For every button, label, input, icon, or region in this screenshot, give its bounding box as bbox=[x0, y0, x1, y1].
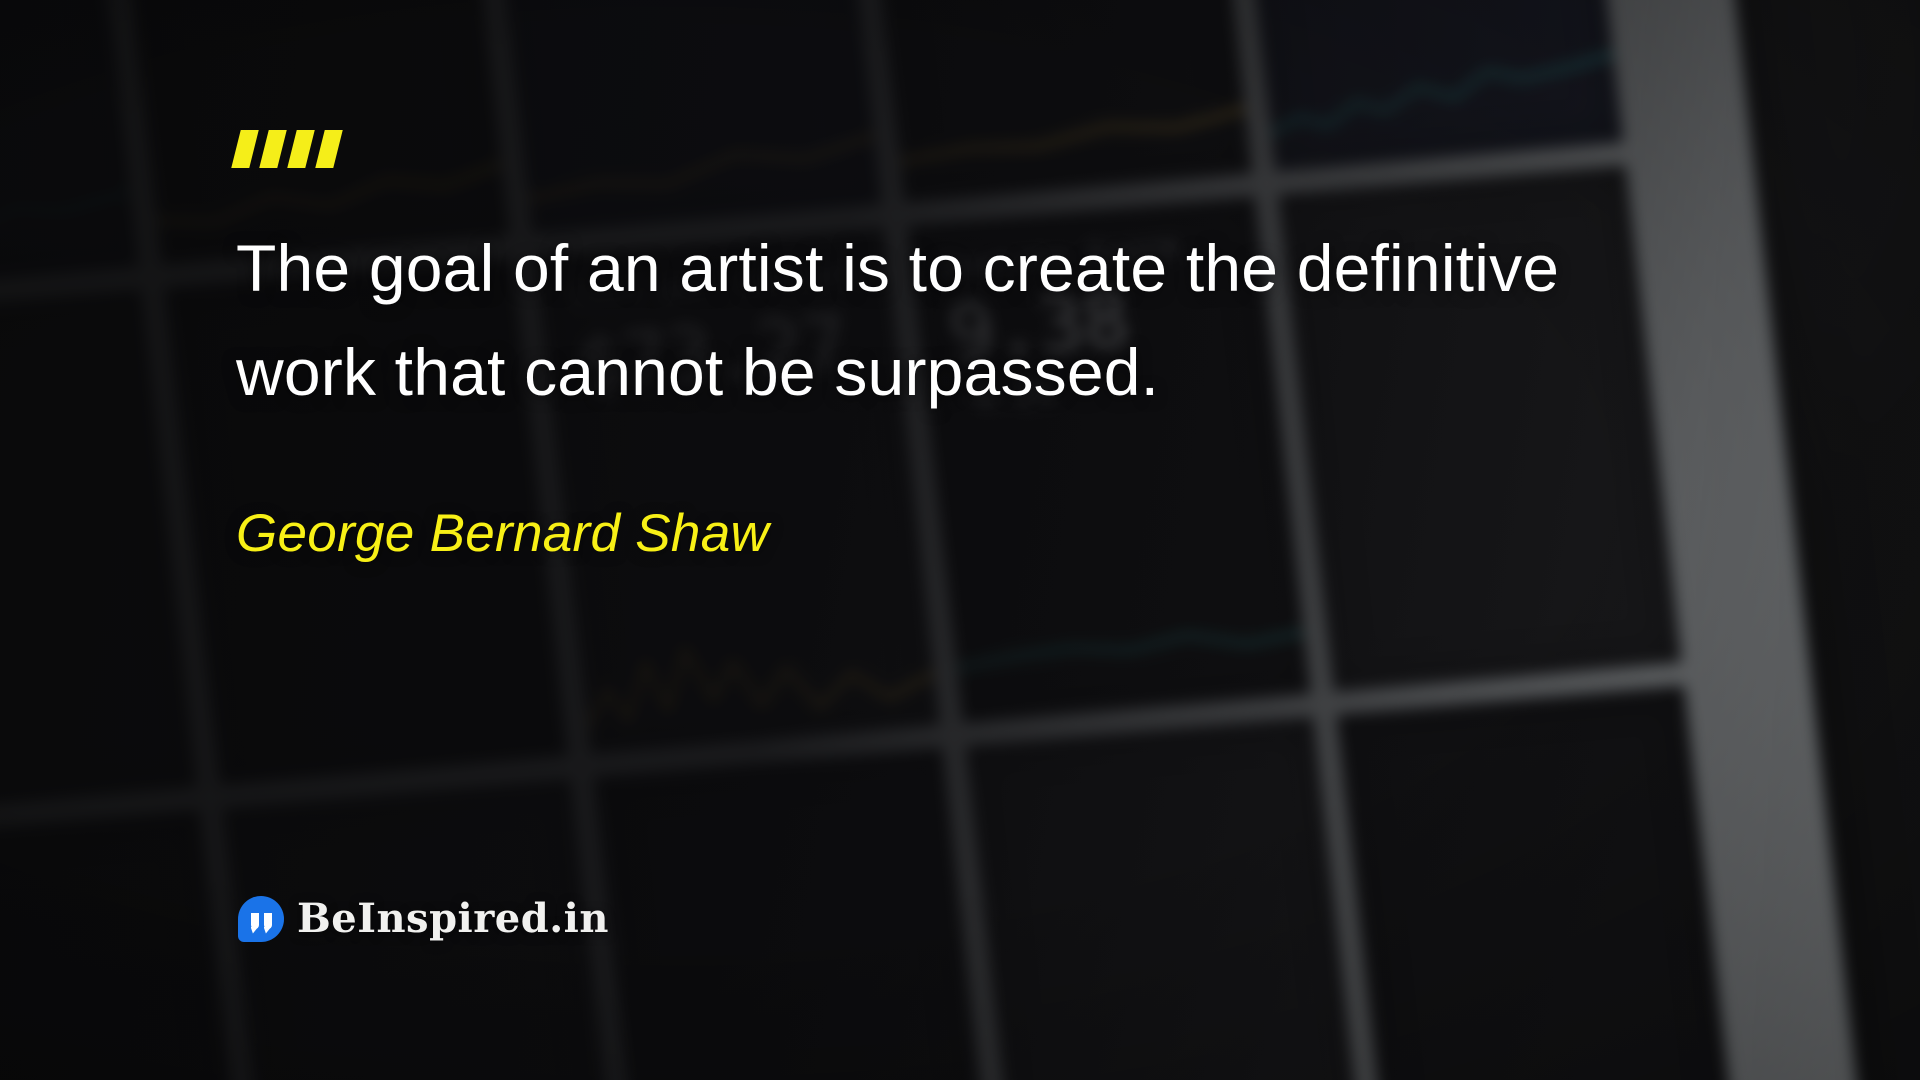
quote-text: The goal of an artist is to create the d… bbox=[236, 216, 1656, 425]
brand-logo[interactable]: BeInspired.in bbox=[238, 895, 609, 942]
quotation-bars-icon bbox=[236, 130, 1656, 168]
quote-author: George Bernard Shaw bbox=[236, 503, 1656, 564]
speech-bubble-quote-icon bbox=[238, 896, 284, 942]
quote-block: The goal of an artist is to create the d… bbox=[236, 130, 1656, 564]
brand-name: BeInspired.in bbox=[297, 895, 609, 942]
quote-card-canvas: 1.67 4.1% CTR 14.65% 10.6% bbox=[0, 0, 1920, 1080]
